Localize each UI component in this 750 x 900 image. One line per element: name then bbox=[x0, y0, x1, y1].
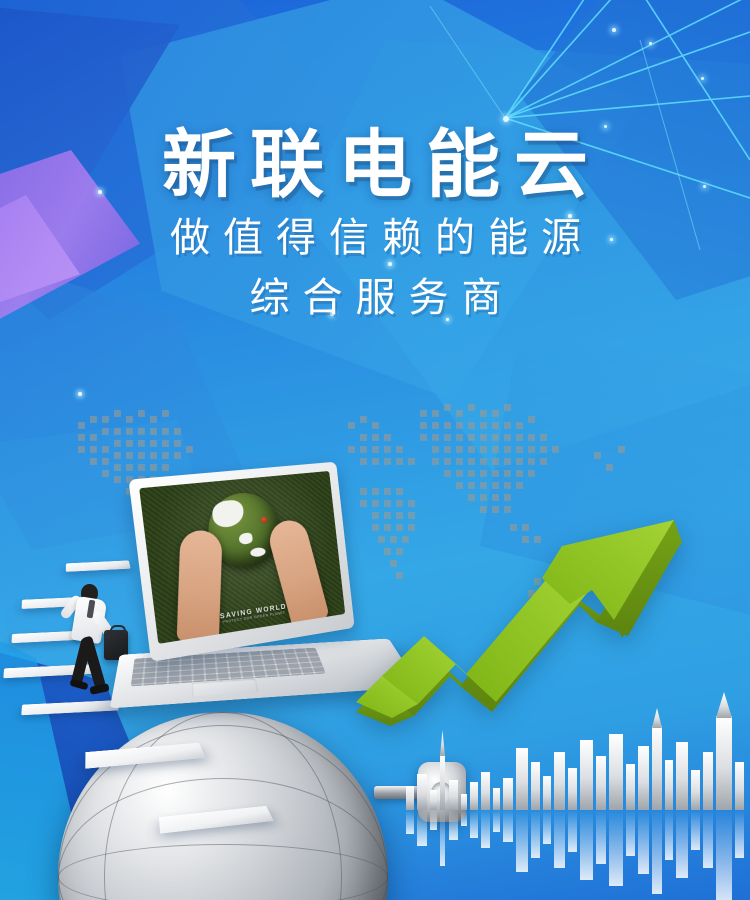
ladybug-icon bbox=[260, 517, 267, 524]
subtitle-line-2: 综合服务商 bbox=[14, 268, 750, 328]
shoe bbox=[89, 683, 109, 695]
globe-gridlines bbox=[58, 712, 388, 900]
trackpad bbox=[192, 679, 259, 697]
subtitle-line-1: 做值得信赖的能源 bbox=[14, 208, 750, 268]
businessman-climbing-icon bbox=[62, 582, 120, 712]
network-node bbox=[612, 28, 616, 32]
continent-shape bbox=[249, 547, 265, 558]
laptop-lid: SAVING WORLD PROTECT OUR GREEN PLANET bbox=[128, 462, 354, 662]
brand-title: 新联电能云 bbox=[14, 128, 750, 202]
laptop-screen: SAVING WORLD PROTECT OUR GREEN PLANET bbox=[139, 471, 345, 644]
continent-shape bbox=[238, 532, 253, 545]
network-node bbox=[503, 116, 509, 122]
network-node bbox=[701, 77, 704, 80]
title-block: 新联电能云 做值得信赖的能源 综合服务商 bbox=[0, 128, 750, 328]
metal-globe-icon bbox=[58, 712, 388, 900]
continent-shape bbox=[210, 499, 244, 528]
shoe bbox=[69, 679, 88, 691]
city-skyline-icon bbox=[404, 690, 750, 900]
network-node bbox=[649, 42, 652, 45]
promo-poster: 新联电能云 做值得信赖的能源 综合服务商 bbox=[0, 0, 750, 900]
